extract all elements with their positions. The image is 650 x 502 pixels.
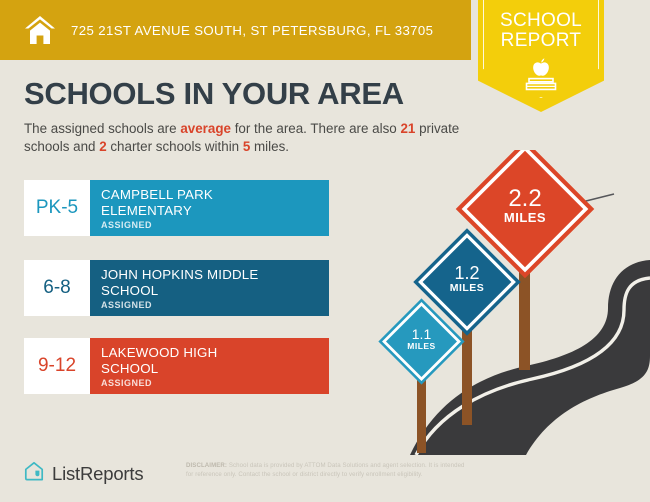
summary-highlight-private-count: 21 bbox=[400, 121, 415, 136]
school-report-badge: SCHOOL REPORT bbox=[478, 0, 604, 112]
school-name-line2: SCHOOL bbox=[101, 361, 329, 377]
summary-part-5: miles. bbox=[250, 139, 289, 154]
road-and-signs-svg bbox=[376, 150, 650, 455]
listreports-house-icon bbox=[24, 461, 44, 487]
school-name-line1: JOHN HOPKINS MIDDLE bbox=[101, 267, 329, 283]
school-info: LAKEWOOD HIGH SCHOOL ASSIGNED bbox=[90, 338, 329, 394]
school-row[interactable]: 6-8 JOHN HOPKINS MIDDLE SCHOOL ASSIGNED bbox=[24, 260, 329, 316]
school-grade-badge: PK-5 bbox=[24, 180, 90, 236]
school-name-line2: SCHOOL bbox=[101, 283, 329, 299]
disclaimer-text: DISCLAIMER: School data is provided by A… bbox=[186, 462, 606, 479]
summary-part-1: The assigned schools are bbox=[24, 121, 180, 136]
school-name-line2: ELEMENTARY bbox=[101, 203, 329, 219]
distance-illustration: 2.2 MILES 1.2 MILES 1.1 MILES bbox=[376, 150, 650, 455]
school-info: CAMPBELL PARK ELEMENTARY ASSIGNED bbox=[90, 180, 329, 236]
infographic-root: 725 21ST AVENUE SOUTH, ST PETERSBURG, FL… bbox=[0, 0, 650, 502]
disclaimer-line1: School data is provided by ATTOM Data So… bbox=[227, 462, 465, 469]
school-status: ASSIGNED bbox=[101, 300, 329, 310]
disclaimer-label: DISCLAIMER: bbox=[186, 462, 227, 469]
disclaimer-line2: for reference only. Contact the school o… bbox=[186, 471, 423, 478]
listreports-logo[interactable]: ListReports bbox=[24, 461, 143, 487]
property-address: 725 21ST AVENUE SOUTH, ST PETERSBURG, FL… bbox=[71, 23, 433, 38]
school-name-line1: CAMPBELL PARK bbox=[101, 187, 329, 203]
header-bar: 725 21ST AVENUE SOUTH, ST PETERSBURG, FL… bbox=[0, 0, 471, 60]
apple-and-book-icon bbox=[478, 56, 604, 99]
school-grade-badge: 9-12 bbox=[24, 338, 90, 394]
school-row[interactable]: 9-12 LAKEWOOD HIGH SCHOOL ASSIGNED bbox=[24, 338, 329, 394]
home-icon bbox=[23, 13, 57, 47]
school-row[interactable]: PK-5 CAMPBELL PARK ELEMENTARY ASSIGNED bbox=[24, 180, 329, 236]
page-title: SCHOOLS IN YOUR AREA bbox=[24, 76, 404, 112]
school-name-line1: LAKEWOOD HIGH bbox=[101, 345, 329, 361]
school-status: ASSIGNED bbox=[101, 220, 329, 230]
school-grade-badge: 6-8 bbox=[24, 260, 90, 316]
school-status: ASSIGNED bbox=[101, 378, 329, 388]
summary-highlight-charter-count: 2 bbox=[99, 139, 106, 154]
summary-highlight-rating: average bbox=[180, 121, 231, 136]
badge-title-line2: REPORT bbox=[478, 31, 604, 51]
school-info: JOHN HOPKINS MIDDLE SCHOOL ASSIGNED bbox=[90, 260, 329, 316]
badge-title-line1: SCHOOL bbox=[478, 0, 604, 31]
listreports-wordmark: ListReports bbox=[52, 463, 143, 485]
summary-part-2: for the area. There are also bbox=[231, 121, 400, 136]
summary-part-4: charter schools within bbox=[107, 139, 243, 154]
